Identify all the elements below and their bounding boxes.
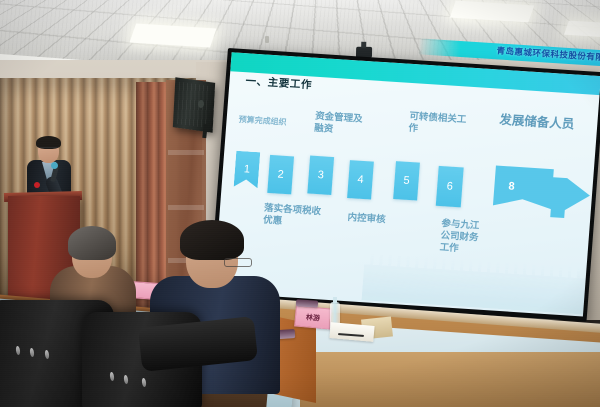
conference-room-photo: 青岛惠城环保科技股份有限 一、主要工作 预算完成组织 资金管理及 融资 可转债相… [0, 0, 600, 407]
step-number-3: 3 [317, 169, 324, 181]
step-label-3: 资金管理及 融资 [314, 111, 378, 139]
step-box-6: 6 [436, 166, 464, 208]
sprinkler-head [265, 36, 269, 43]
mobile-phone [296, 299, 318, 308]
step-box-4: 4 [347, 160, 374, 199]
slide-section-title: 一、主要工作 [245, 73, 313, 92]
step-label-6: 参与九江 公司财务 工作 [439, 218, 502, 257]
step-label-4: 内控审核 [347, 212, 410, 228]
step-box-5: 5 [393, 161, 420, 200]
step-number-4: 4 [357, 174, 364, 186]
pillar-band [168, 150, 204, 155]
step-number-5: 5 [403, 175, 410, 187]
step-arrow-8 [492, 166, 591, 220]
pillar-band [168, 205, 204, 210]
step-number-6: 6 [446, 180, 453, 192]
attendee-hair [68, 226, 116, 260]
step-number-2: 2 [277, 168, 284, 180]
step-box-1: 1 [234, 151, 261, 188]
step-number-1: 1 [243, 163, 250, 175]
led-panel-light [564, 21, 600, 38]
attendee-hair [180, 220, 244, 260]
step-label-1: 预算完成组织 [238, 115, 311, 130]
glasses-icon [39, 147, 58, 152]
step-label-8: 发展储备人员 [499, 113, 600, 135]
step-label-5: 可转债相关工 作 [408, 111, 478, 139]
step-box-2: 2 [267, 155, 294, 194]
step-number-8: 8 [508, 180, 515, 192]
step-box-3: 3 [307, 156, 334, 195]
glasses-icon [224, 258, 252, 267]
lapel-pin-icon [34, 182, 40, 188]
floor [300, 352, 600, 407]
microphone-head-icon [51, 162, 58, 169]
wall-speaker [173, 77, 215, 133]
name-card-right: 林游 [294, 305, 332, 329]
